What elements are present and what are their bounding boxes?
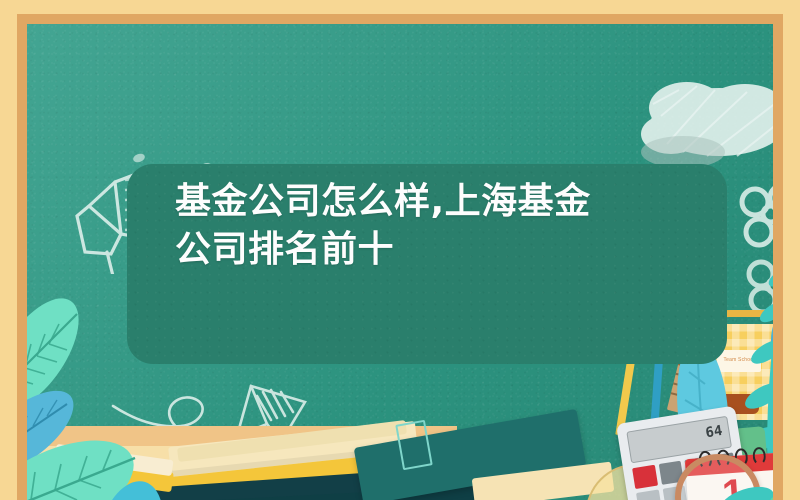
- notebook-teal: [357, 420, 587, 494]
- title-line-2: 公司排名前十: [175, 226, 645, 274]
- calculator-key: [632, 465, 658, 489]
- page-title: 基金公司怎么样,上海基金 公司排名前十: [175, 178, 645, 273]
- leaf-small-right: [717, 472, 773, 500]
- cover-image: Team School: [0, 0, 800, 500]
- title-line-1: 基金公司怎么样,上海基金: [175, 178, 645, 226]
- calculator-key: [636, 490, 662, 500]
- calculator-display: 64: [704, 423, 723, 441]
